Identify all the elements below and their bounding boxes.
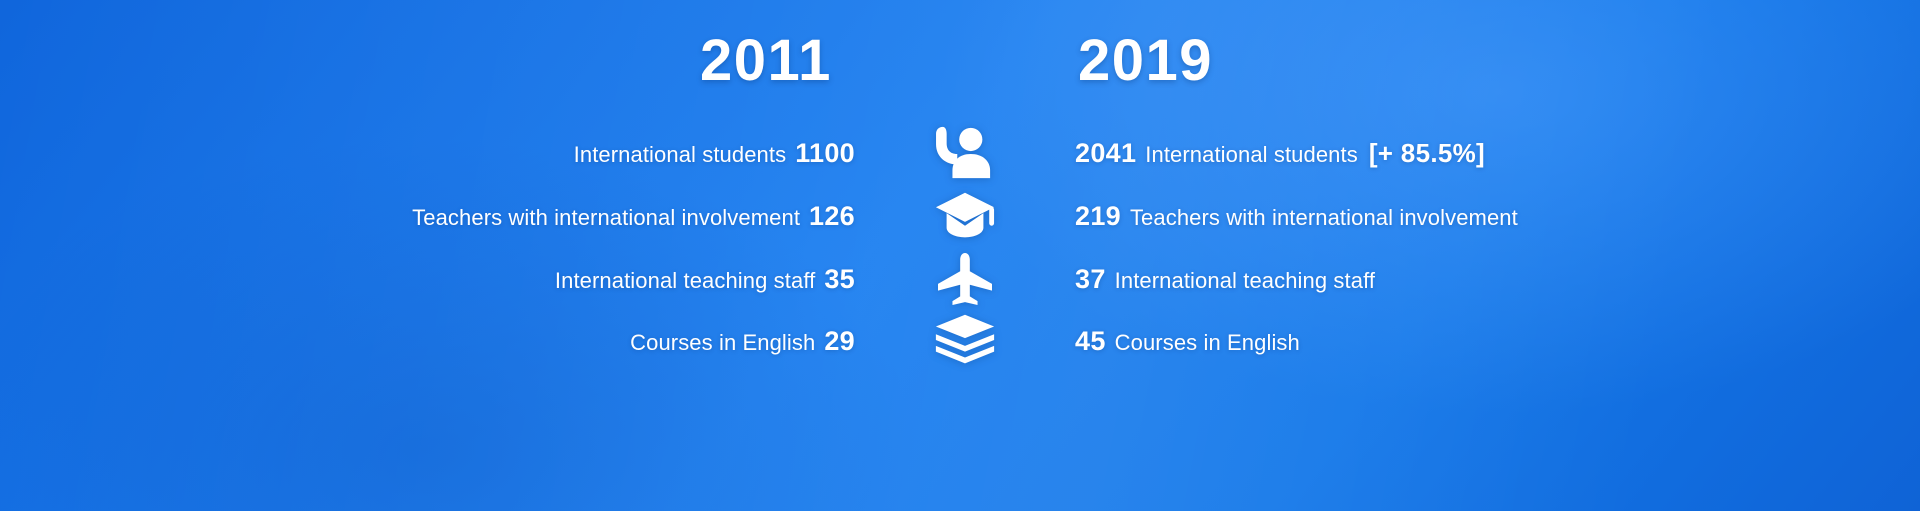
stat-value-2011: 35 xyxy=(824,264,855,295)
stat-value-2019: 2041 xyxy=(1075,138,1136,169)
graduation-cap-icon xyxy=(934,188,996,244)
stat-label-right: Courses in English xyxy=(1115,330,1300,356)
internationalization-infographic: 2011 2019 International students 1100 20… xyxy=(0,0,1920,511)
stat-right-international-teaching-staff: 37 International teaching staff xyxy=(1075,264,1920,295)
stat-value-2019: 45 xyxy=(1075,326,1106,357)
stat-right-teachers-international-involvement: 219 Teachers with international involvem… xyxy=(1075,201,1920,232)
stat-left-teachers-international-involvement: Teachers with international involvement … xyxy=(0,201,855,232)
icon-cell-international-teaching-staff xyxy=(855,252,1075,306)
stat-label-left: Courses in English xyxy=(630,330,815,356)
stat-label-right: Teachers with international involvement xyxy=(1130,205,1518,231)
stat-left-international-students: International students 1100 xyxy=(0,138,855,169)
stat-value-2019: 37 xyxy=(1075,264,1106,295)
stat-value-2011: 1100 xyxy=(795,138,855,169)
stat-delta-badge: [+ 85.5%] xyxy=(1369,138,1485,169)
stat-row-courses-in-english: Courses in English 29 45 Courses in Engl… xyxy=(0,310,1920,372)
stat-value-2019: 219 xyxy=(1075,201,1121,232)
year-heading-left: 2011 xyxy=(700,32,832,90)
airplane-icon xyxy=(936,252,994,306)
stat-label-left: International teaching staff xyxy=(555,268,815,294)
student-raising-hand-icon xyxy=(934,125,996,181)
stat-label-left: Teachers with international involvement xyxy=(412,205,800,231)
stat-label-left: International students xyxy=(574,142,787,168)
stat-row-international-students: International students 1100 2041 Interna… xyxy=(0,122,1920,184)
icon-cell-courses-in-english xyxy=(855,312,1075,370)
stat-left-international-teaching-staff: International teaching staff 35 xyxy=(0,264,855,295)
year-heading-right: 2019 xyxy=(1078,32,1213,90)
stat-right-courses-in-english: 45 Courses in English xyxy=(1075,326,1920,357)
stat-value-2011: 29 xyxy=(824,326,855,357)
stat-value-2011: 126 xyxy=(809,201,855,232)
stat-row-teachers-international-involvement: Teachers with international involvement … xyxy=(0,185,1920,247)
stat-row-international-teaching-staff: International teaching staff 35 37 Inter… xyxy=(0,248,1920,310)
books-stack-icon xyxy=(932,312,998,370)
stat-right-international-students: 2041 International students [+ 85.5%] xyxy=(1075,138,1920,169)
stat-left-courses-in-english: Courses in English 29 xyxy=(0,326,855,357)
stat-label-right: International students xyxy=(1145,142,1358,168)
icon-cell-international-students xyxy=(855,125,1075,181)
icon-cell-teachers-international-involvement xyxy=(855,188,1075,244)
stat-label-right: International teaching staff xyxy=(1115,268,1375,294)
